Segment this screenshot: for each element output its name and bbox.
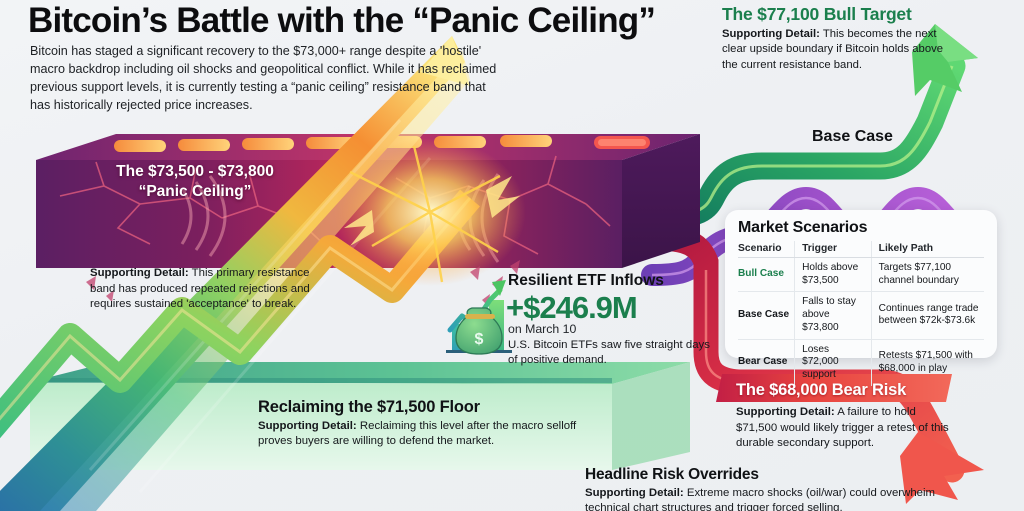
resistance-supporting-detail: Supporting Detail: This primary resistan… xyxy=(90,266,315,313)
table-row: Bear Case Loses $72,000 support Retests … xyxy=(738,339,984,386)
etf-chart-icon: $ xyxy=(446,280,512,354)
scenario-path-bull: Targets $77,100 channel boundary xyxy=(871,258,984,292)
scenario-path-base: Continues range trade between $72k-$73.6… xyxy=(871,292,984,339)
resistance-detail-lead: Supporting Detail: xyxy=(90,267,189,279)
impact-burst xyxy=(334,138,526,286)
market-scenarios-card: Market Scenarios Scenario Trigger Likely… xyxy=(725,210,997,358)
base-case-label: Base Case xyxy=(812,128,893,146)
headline-risk-detail: Supporting Detail: Extreme macro shocks … xyxy=(585,486,955,511)
svg-text:$: $ xyxy=(475,331,484,348)
bear-detail-lead: Supporting Detail: xyxy=(736,406,835,418)
floor-heading: Reclaiming the $71,500 Floor xyxy=(258,398,480,417)
etf-inflows-heading: Resilient ETF Inflows xyxy=(508,272,664,290)
headline-risk-heading: Headline Risk Overrides xyxy=(585,466,759,484)
scenario-name-bear: Bear Case xyxy=(738,339,795,386)
table-header-row: Scenario Trigger Likely Path xyxy=(738,241,984,258)
panic-ceiling-label-line2: “Panic Ceiling” xyxy=(45,182,345,202)
market-scenarios-title: Market Scenarios xyxy=(738,219,984,237)
floor-detail: Supporting Detail: Reclaiming this level… xyxy=(258,419,588,450)
market-scenarios-table: Scenario Trigger Likely Path Bull Case H… xyxy=(738,241,984,386)
floor-detail-lead: Supporting Detail: xyxy=(258,420,357,432)
table-row: Bull Case Holds above $73,500 Targets $7… xyxy=(738,258,984,292)
scenario-path-bear: Retests $71,500 with $68,000 in play xyxy=(871,339,984,386)
column-header-trigger: Trigger xyxy=(795,241,872,258)
scenario-name-bull: Bull Case xyxy=(738,258,795,292)
column-header-scenario: Scenario xyxy=(738,241,795,258)
panic-ceiling-label: The $73,500 - $73,800 “Panic Ceiling” xyxy=(45,162,345,203)
column-header-likely-path: Likely Path xyxy=(871,241,984,258)
intro-paragraph: Bitcoin has staged a significant recover… xyxy=(30,43,500,115)
scenario-name-base: Base Case xyxy=(738,292,795,339)
bull-target-heading: The $77,100 Bull Target xyxy=(722,4,992,25)
etf-inflows-value: +$246.9M xyxy=(506,290,637,326)
bull-detail-lead: Supporting Detail: xyxy=(722,28,820,40)
etf-inflows-note: U.S. Bitcoin ETFs saw five straight days… xyxy=(508,338,713,368)
etf-inflows-date: on March 10 xyxy=(508,322,576,336)
scenario-trigger-base: Falls to stay above $73,800 xyxy=(795,292,872,339)
table-row: Base Case Falls to stay above $73,800 Co… xyxy=(738,292,984,339)
headline-detail-lead: Supporting Detail: xyxy=(585,487,684,499)
page-title: Bitcoin’s Battle with the “Panic Ceiling… xyxy=(28,2,688,39)
panic-ceiling-label-line1: The $73,500 - $73,800 xyxy=(45,162,345,182)
bear-risk-heading: The $68,000 Bear Risk xyxy=(736,381,906,400)
bear-risk-detail: Supporting Detail: A failure to hold $71… xyxy=(736,405,951,452)
scenario-trigger-bull: Holds above $73,500 xyxy=(795,258,872,292)
scenario-trigger-bear: Loses $72,000 support xyxy=(795,339,872,386)
bull-target-detail: Supporting Detail: This becomes the next… xyxy=(722,27,944,73)
infographic-canvas: $ Bitcoin’s Battle with the “Panic Ceili… xyxy=(0,0,1024,511)
